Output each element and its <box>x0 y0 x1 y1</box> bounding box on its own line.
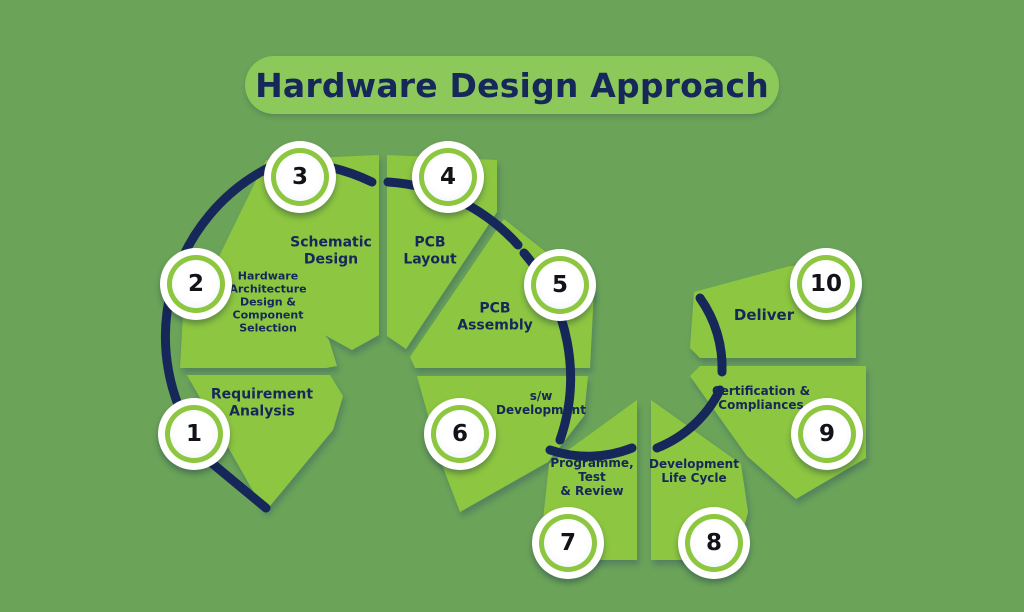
badge-core: 4 <box>424 153 472 201</box>
step-badge-10[interactable]: 10 <box>790 248 862 320</box>
badge-ring: 6 <box>431 405 489 463</box>
badge-ring: 10 <box>797 255 855 313</box>
step-badge-4[interactable]: 4 <box>412 141 484 213</box>
step-badge-1[interactable]: 1 <box>158 398 230 470</box>
step-badge-5[interactable]: 5 <box>524 249 596 321</box>
step-badge-3[interactable]: 3 <box>264 141 336 213</box>
badge-core: 3 <box>276 153 324 201</box>
badge-ring: 4 <box>419 148 477 206</box>
badge-core: 10 <box>802 260 850 308</box>
badge-core: 1 <box>170 410 218 458</box>
page-title-text: Hardware Design Approach <box>255 66 769 105</box>
step-number-text: 4 <box>440 166 456 189</box>
left-arc-segments <box>180 155 594 512</box>
step-number-text: 7 <box>560 532 576 555</box>
step-number-text: 3 <box>292 166 308 189</box>
step-number-text: 8 <box>706 532 722 555</box>
badge-core: 5 <box>536 261 584 309</box>
badge-core: 2 <box>172 260 220 308</box>
badge-ring: 8 <box>685 514 743 572</box>
step-badge-2[interactable]: 2 <box>160 248 232 320</box>
step-number-text: 10 <box>810 273 842 296</box>
badge-core: 8 <box>690 519 738 567</box>
step-number-text: 6 <box>452 423 468 446</box>
badge-ring: 1 <box>165 405 223 463</box>
badge-core: 9 <box>803 410 851 458</box>
badge-core: 6 <box>436 410 484 458</box>
step-badge-6[interactable]: 6 <box>424 398 496 470</box>
step-badge-8[interactable]: 8 <box>678 507 750 579</box>
badge-core: 7 <box>544 519 592 567</box>
badge-ring: 3 <box>271 148 329 206</box>
step-number-text: 1 <box>186 423 202 446</box>
badge-ring: 5 <box>531 256 589 314</box>
page-title: Hardware Design Approach <box>245 56 779 114</box>
badge-ring: 2 <box>167 255 225 313</box>
diagram-canvas: Hardware Design Approach Requirement Ana… <box>0 0 1024 612</box>
step-number-text: 2 <box>188 273 204 296</box>
step-number-text: 5 <box>552 274 568 297</box>
step-badge-7[interactable]: 7 <box>532 507 604 579</box>
badge-ring: 9 <box>798 405 856 463</box>
badge-ring: 7 <box>539 514 597 572</box>
step-badge-9[interactable]: 9 <box>791 398 863 470</box>
step-number-text: 9 <box>819 423 835 446</box>
